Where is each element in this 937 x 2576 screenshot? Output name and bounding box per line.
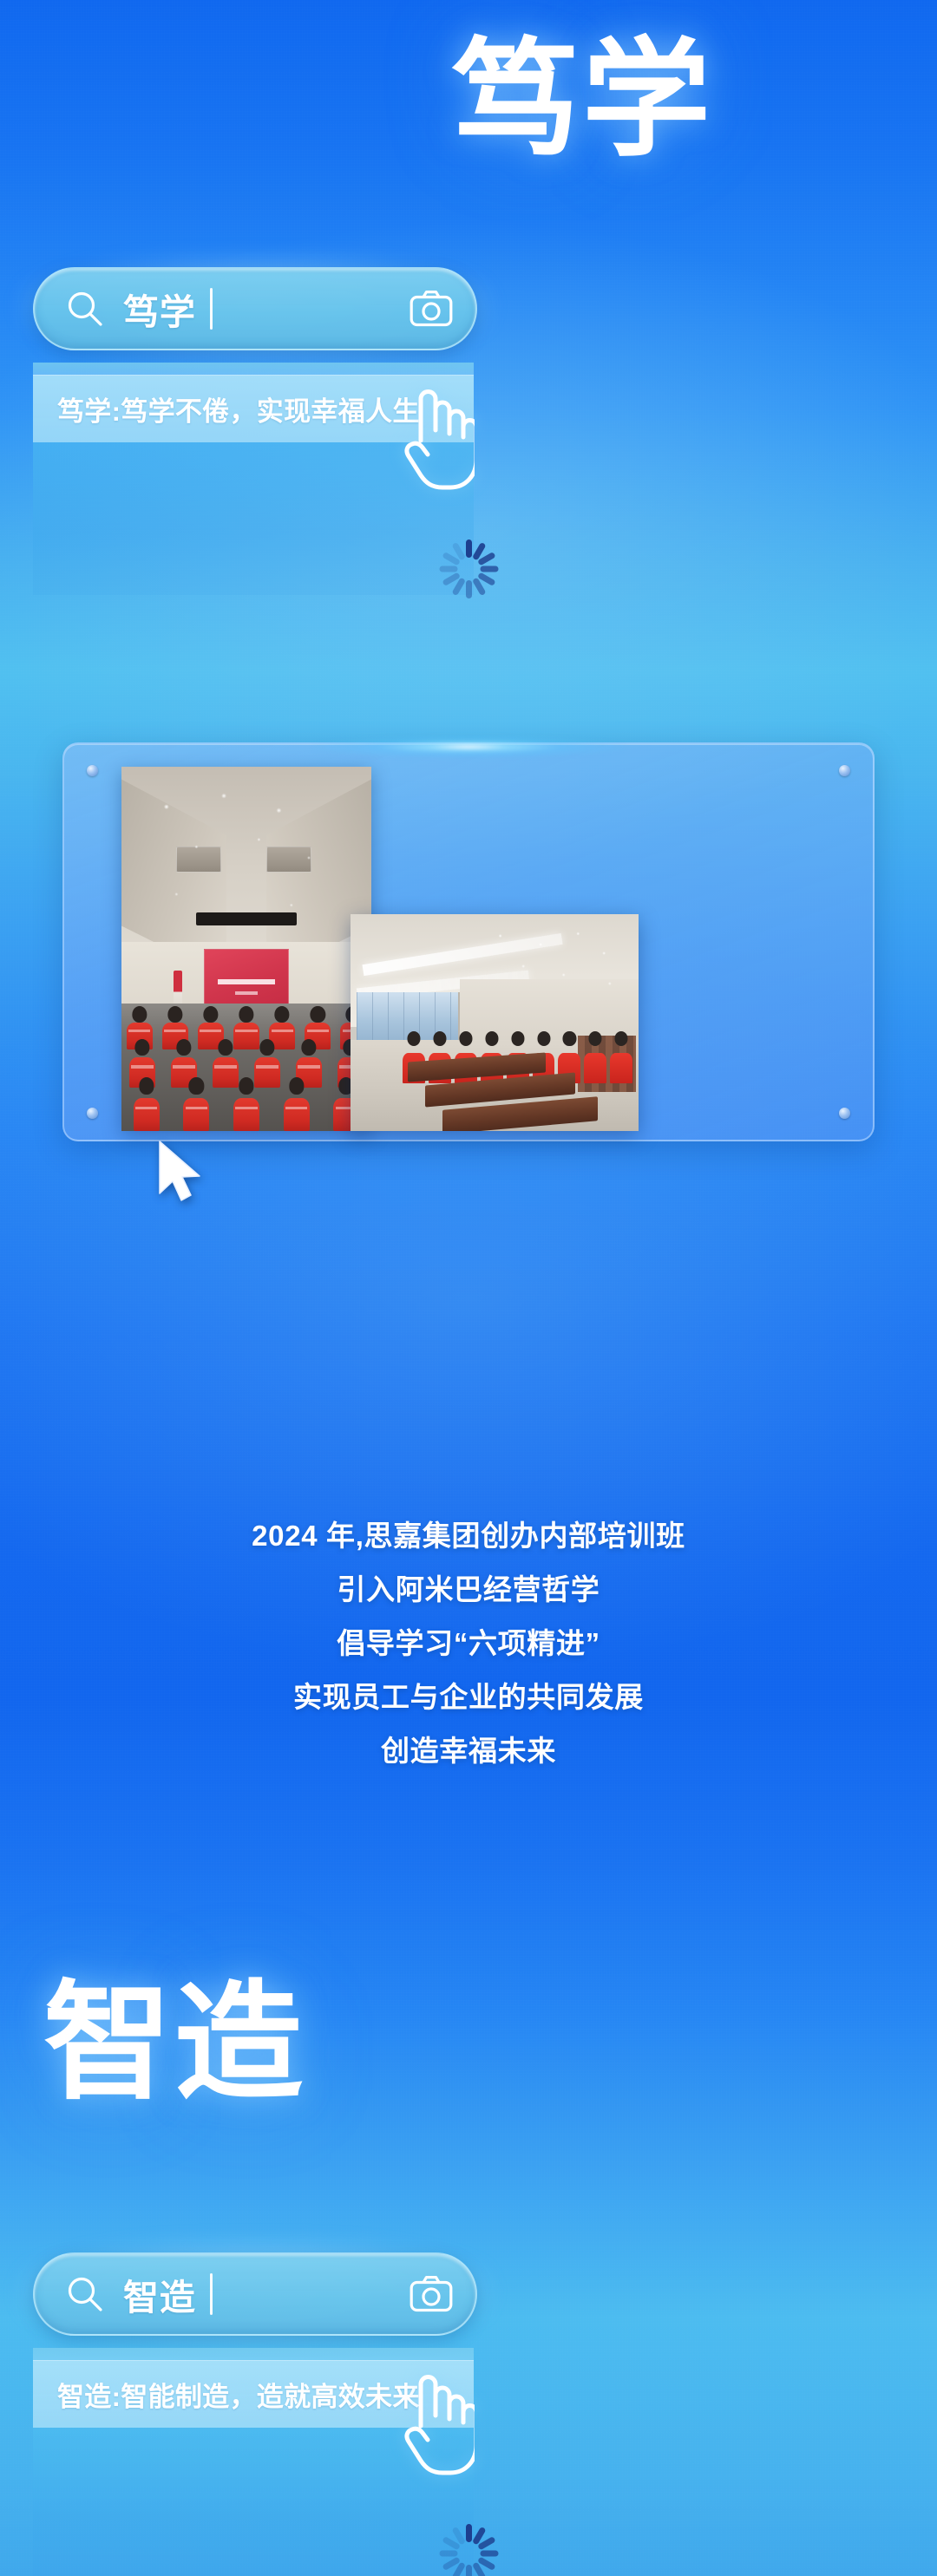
photo1-light-truss	[196, 912, 296, 925]
section-1-headline: 笃学	[451, 42, 713, 160]
photo1-vent-2	[266, 847, 311, 872]
search-input-value-2[interactable]: 智造	[123, 2268, 196, 2320]
photo1-audience-row	[121, 1077, 371, 1131]
caption-line: 创造幸福未来	[0, 1724, 937, 1778]
search-icon	[66, 290, 104, 328]
screw-icon-top-right	[839, 765, 850, 776]
camera-icon[interactable]	[410, 290, 453, 328]
section-2-headline: 智造	[43, 1984, 305, 2102]
training-photo-2[interactable]	[351, 914, 639, 1131]
suggestion-panel-cap-2	[33, 2348, 474, 2360]
caption-line: 引入阿米巴经营哲学	[0, 1563, 937, 1617]
photo1-audience	[121, 1004, 371, 1131]
caption-line: 实现员工与企业的共同发展	[0, 1670, 937, 1724]
search-bar-2[interactable]: 智造	[33, 2252, 477, 2336]
loading-spinner-1	[437, 538, 500, 600]
camera-icon[interactable]	[410, 2275, 453, 2313]
search-input-value-1[interactable]: 笃学	[123, 283, 196, 335]
text-caret-1	[210, 288, 213, 330]
hand-pointer-cursor-2	[395, 2365, 475, 2478]
suggestion-item-label-2: 智造:智能制造，造就高效未来	[57, 2375, 420, 2414]
search-bar-1[interactable]: 笃学	[33, 267, 477, 350]
screw-icon-top-left	[87, 765, 98, 776]
photo-frame-card	[62, 742, 875, 1141]
screw-icon-bottom-right	[839, 1108, 850, 1119]
arrow-cursor	[154, 1138, 212, 1209]
caption-block: 2024 年,思嘉集团创办内部培训班 引入阿米巴经营哲学 倡导学习“六项精进” …	[0, 1509, 937, 1778]
training-photo-1[interactable]	[121, 767, 371, 1131]
hand-pointer-cursor-1	[395, 380, 475, 493]
caption-line: 倡导学习“六项精进”	[0, 1617, 937, 1670]
photo1-vent-1	[176, 847, 221, 872]
text-caret-2	[210, 2273, 213, 2315]
loading-spinner-2	[437, 2522, 500, 2576]
caption-line: 2024 年,思嘉集团创办内部培训班	[0, 1509, 937, 1563]
suggestion-panel-cap-1	[33, 363, 474, 375]
screw-icon-bottom-left	[87, 1108, 98, 1119]
suggestion-item-label-1: 笃学:笃学不倦，实现幸福人生	[57, 389, 420, 428]
search-icon	[66, 2275, 104, 2313]
